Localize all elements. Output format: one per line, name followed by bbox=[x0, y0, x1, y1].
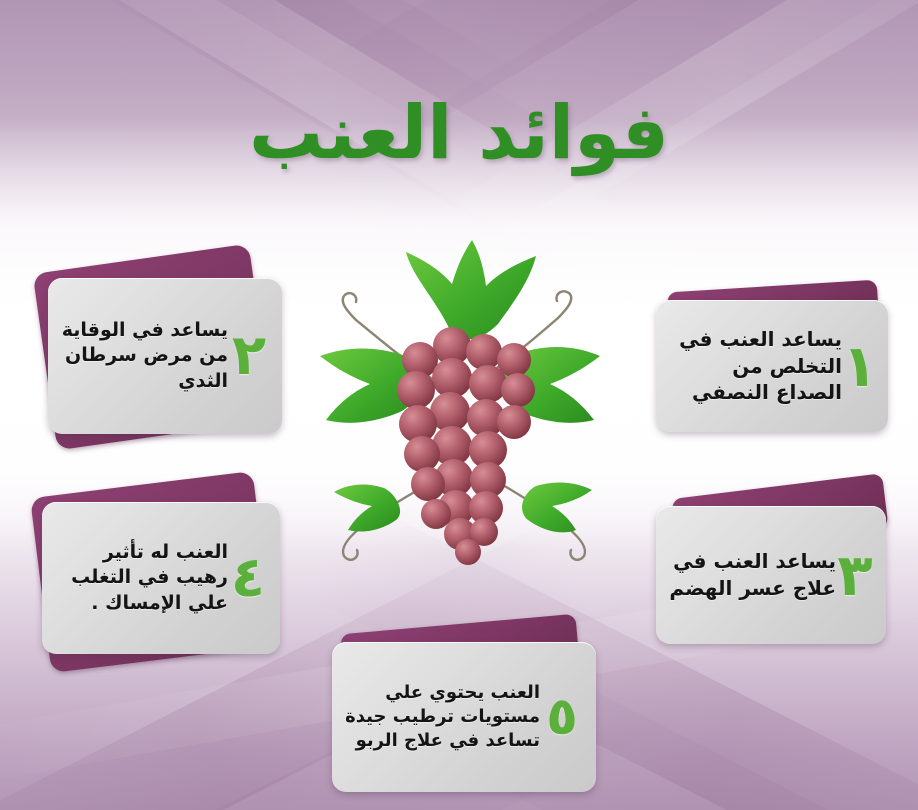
card-panel: ١ يساعد العنب في التخلص من الصداع النصفي bbox=[656, 300, 888, 432]
page-title: فوائد العنب bbox=[0, 96, 918, 170]
card-text: يساعد في الوقاية من مرض سرطان الثدي bbox=[52, 318, 228, 394]
benefit-card-3[interactable]: ٣ يساعد العنب في علاج عسر الهضم bbox=[640, 486, 890, 652]
benefit-card-4[interactable]: ٤ العنب له تأثير رهيب في التغلب علي الإم… bbox=[28, 484, 284, 670]
benefit-card-5[interactable]: ٥ العنب يحتوي علي مستويات ترطيب جيدة تسا… bbox=[316, 624, 604, 800]
card-text: العنب له تأثير رهيب في التغلب علي الإمسا… bbox=[46, 540, 228, 616]
benefit-card-2[interactable]: ٢ يساعد في الوقاية من مرض سرطان الثدي bbox=[34, 258, 286, 444]
card-text: العنب يحتوي علي مستويات ترطيب جيدة تساعد… bbox=[338, 681, 540, 753]
card-panel: ٢ يساعد في الوقاية من مرض سرطان الثدي bbox=[48, 278, 282, 434]
card-numeral: ٣ bbox=[836, 546, 874, 604]
card-numeral: ٤ bbox=[228, 550, 268, 606]
card-numeral: ٥ bbox=[540, 691, 584, 743]
benefit-card-1[interactable]: ١ يساعد العنب في التخلص من الصداع النصفي bbox=[640, 286, 888, 436]
card-panel: ٥ العنب يحتوي علي مستويات ترطيب جيدة تسا… bbox=[332, 642, 596, 792]
card-numeral: ١ bbox=[842, 337, 876, 395]
card-text: يساعد العنب في علاج عسر الهضم bbox=[662, 548, 836, 602]
card-panel: ٤ العنب له تأثير رهيب في التغلب علي الإم… bbox=[42, 502, 280, 654]
card-text: يساعد العنب في التخلص من الصداع النصفي bbox=[662, 326, 842, 406]
infographic-poster: فوائد العنب bbox=[0, 0, 918, 810]
card-numeral: ٢ bbox=[228, 328, 270, 384]
grape-cluster-illustration bbox=[300, 238, 622, 583]
card-panel: ٣ يساعد العنب في علاج عسر الهضم bbox=[656, 506, 886, 644]
